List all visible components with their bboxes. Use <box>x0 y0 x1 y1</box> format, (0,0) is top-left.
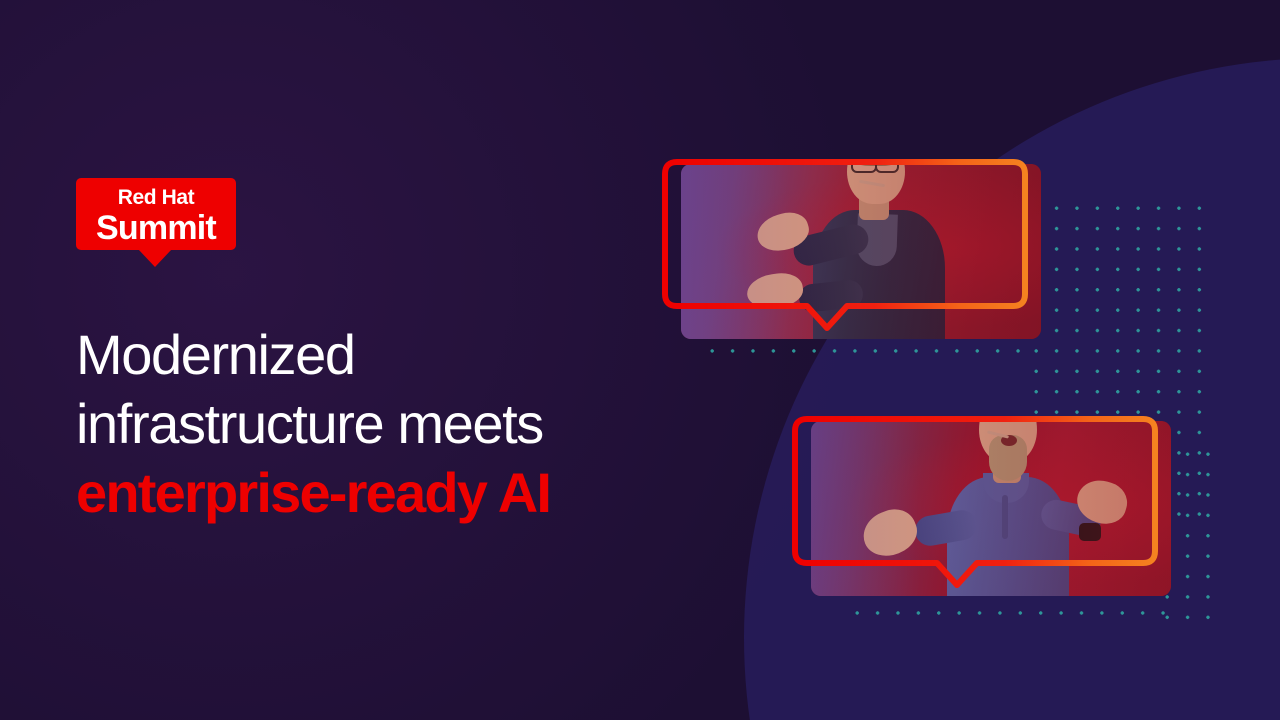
logo-text: Red Hat Summit <box>76 186 236 247</box>
bubble-outline-bottom <box>795 405 1187 635</box>
speaker-bubble-bottom <box>795 405 1187 635</box>
headline-line-3: enterprise-ready AI <box>76 458 716 527</box>
headline-line-2: infrastructure meets <box>76 389 716 458</box>
speaker-bubble-top <box>665 148 1057 378</box>
bubble-outline-top <box>665 148 1057 378</box>
logo-line-summit: Summit <box>76 210 236 247</box>
red-hat-summit-logo[interactable]: Red Hat Summit <box>76 178 236 250</box>
headline: Modernized infrastructure meets enterpri… <box>76 320 716 527</box>
headline-line-1: Modernized <box>76 320 716 389</box>
logo-line-red-hat: Red Hat <box>76 186 236 210</box>
promo-banner: Red Hat Summit Modernized infrastructure… <box>0 0 1280 720</box>
logo-tail <box>138 249 172 267</box>
